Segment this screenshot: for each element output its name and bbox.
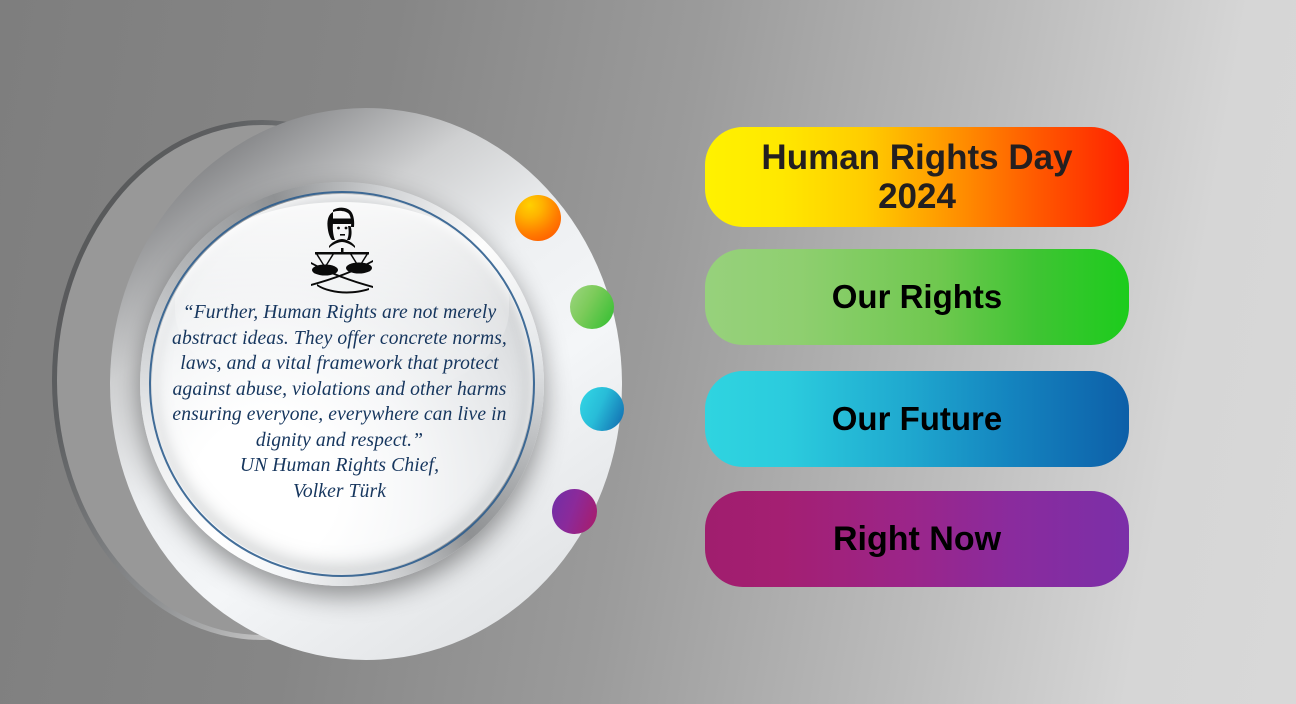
emblem-content: “Further, Human Rights are not merely ab… (152, 194, 532, 574)
banner-human-rights-day[interactable]: Human Rights Day 2024 (705, 127, 1129, 227)
lady-justice-scales-icon (299, 202, 385, 298)
orbit-dot-green (570, 285, 614, 329)
orbit-dot-orange (515, 195, 561, 241)
orbit-dot-purple (552, 489, 597, 534)
quote-body: “Further, Human Rights are not merely ab… (172, 302, 507, 451)
banner-our-future[interactable]: Our Future (705, 371, 1129, 467)
banner-right-now[interactable]: Right Now (705, 491, 1129, 587)
orbit-dot-blue (580, 387, 624, 431)
quote-attribution-line-1: UN Human Rights Chief, (154, 453, 526, 479)
slide-canvas: “Further, Human Rights are not merely ab… (0, 0, 1296, 704)
banner-stack: Human Rights Day 2024 Our Rights Our Fut… (705, 0, 1135, 704)
banner-our-rights[interactable]: Our Rights (705, 249, 1129, 345)
banner-our-future-label: Our Future (832, 401, 1003, 438)
banner-our-rights-label: Our Rights (832, 279, 1003, 316)
quote-text: “Further, Human Rights are not merely ab… (154, 300, 526, 504)
banner-human-rights-day-label: Human Rights Day 2024 (719, 138, 1115, 216)
orbit-graphic: “Further, Human Rights are not merely ab… (0, 0, 700, 704)
banner-right-now-label: Right Now (833, 520, 1001, 558)
quote-attribution-line-2: Volker Türk (154, 479, 526, 505)
